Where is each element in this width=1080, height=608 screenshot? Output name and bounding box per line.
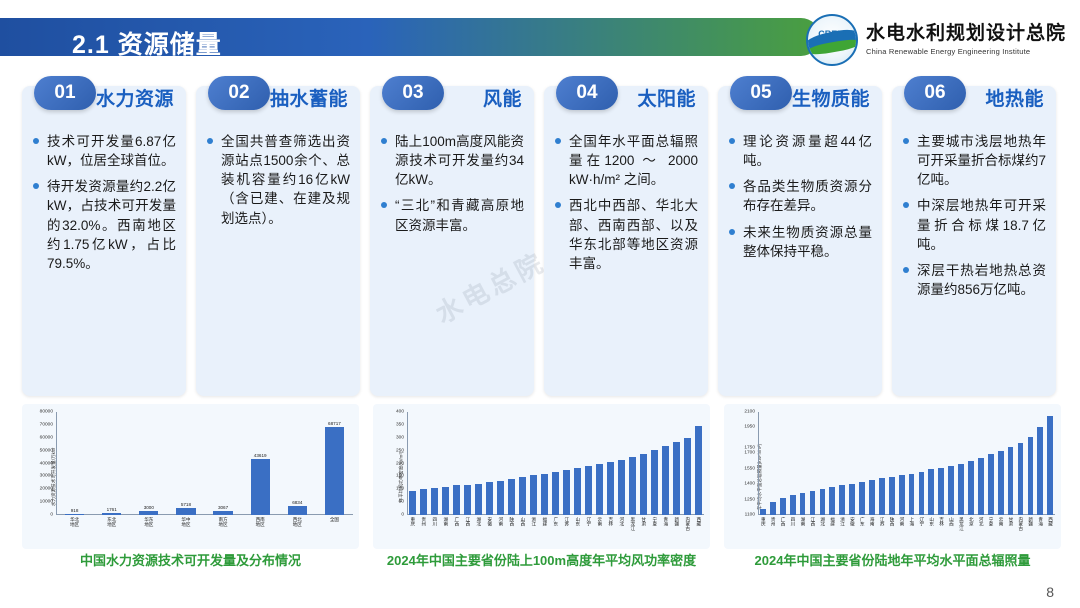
chart-x-tick: 华北 地区	[58, 517, 92, 528]
resource-card-geothermal: 06 地热能 主要城市浅层地热年可开采量折合标煤约7亿吨。 中深层地热年可开采量…	[892, 86, 1056, 396]
chart-x-tick: 贵州	[771, 517, 776, 526]
chart-x-tick: 上海	[909, 517, 914, 526]
chart-x-tick: 广西	[454, 517, 459, 526]
chart-x-tick: 广西	[780, 517, 785, 526]
chart-bar	[662, 446, 668, 515]
chart-x-tick: 河南	[899, 517, 904, 526]
chart-x-tick: 甘肃	[641, 517, 646, 526]
chart-bar	[928, 469, 934, 515]
chart-y-tick: 350	[396, 422, 404, 427]
chart-bar	[497, 481, 503, 515]
institute-logo: CREEI 水电水利规划设计总院 China Renewable Energy …	[806, 14, 1066, 66]
card-bullet: 中深层地热年可开采量折合标煤18.7亿吨。	[902, 196, 1046, 253]
chart-bar	[978, 458, 984, 515]
chart-x-tick: 山西	[949, 517, 954, 526]
chart-x-tick: 黑龙江	[630, 517, 635, 531]
chart-bar	[770, 502, 776, 515]
chart-y-tick: 0	[401, 513, 404, 518]
chart-x-tick: 湖北	[476, 517, 481, 526]
chart-x-tick: 西藏	[1048, 517, 1053, 526]
chart-bar	[65, 514, 84, 515]
chart-bar	[629, 457, 635, 515]
card-number-badge: 01	[34, 76, 96, 110]
chart-bar	[695, 426, 701, 515]
card-bullet: 全国年水平面总辐照量在1200 ～ 2000 kW·h/m² 之间。	[554, 132, 698, 189]
chart-bar	[508, 479, 514, 515]
chart-x-tick: 辽宁	[586, 517, 591, 526]
chart-bar	[541, 474, 547, 515]
chart-bar	[673, 442, 679, 515]
chart-x-tick: 四川	[790, 517, 795, 526]
chart-x-tick: 四川	[432, 517, 437, 526]
chart-y-tick: 200	[396, 461, 404, 466]
chart-x-tick: 青海	[1038, 517, 1043, 526]
chart-y-tick: 50	[399, 500, 404, 505]
chart-x-tick: 贵州	[421, 517, 426, 526]
chart-x-tick: 新疆	[674, 517, 679, 526]
chart-bar	[563, 470, 569, 515]
chart-bar	[607, 462, 613, 515]
chart-y-tick: 100	[396, 487, 404, 492]
chart-bar	[919, 472, 925, 515]
chart-y-tick: 1700	[744, 451, 755, 456]
chart-bar	[530, 475, 536, 515]
chart-x-tick: 河北	[619, 517, 624, 526]
chart-y-tick: 30000	[40, 474, 53, 479]
chart-bar-value: 68717	[328, 421, 341, 426]
chart-x-tick: 陕西	[889, 517, 894, 526]
chart-bar	[651, 450, 657, 515]
chart-bar	[760, 509, 766, 515]
chart-bar	[288, 506, 307, 515]
chart-bar	[948, 466, 954, 515]
chart-bar	[325, 427, 344, 515]
chart-bar	[1037, 427, 1043, 515]
chart-x-tick: 吉林	[939, 517, 944, 526]
chart-x-tick: 西南 地区	[243, 517, 277, 528]
card-bullet: 技术可开发量6.87亿kW，位居全球首位。	[32, 132, 176, 170]
card-number-badge: 02	[208, 76, 270, 110]
chart-bars: 重庆贵州广西四川湖南江西湖北福建浙江安徽广东海南江苏陕西河南上海辽宁山东吉林山西…	[758, 412, 1055, 515]
card-number-badge: 05	[730, 76, 792, 110]
chart-x-tick: 江苏	[564, 517, 569, 526]
chart-bar	[420, 489, 426, 515]
chart-wind-power-density: 年平均风功率密度(W/m²) 050100150200250300350400重…	[373, 404, 710, 549]
card-title: 水力资源	[96, 84, 174, 111]
chart-bar	[869, 480, 875, 515]
chart-bar-value: 5718	[181, 502, 191, 507]
chart-bar	[475, 484, 481, 515]
chart-x-tick: 宁夏	[652, 517, 657, 526]
chart-caption: 2024年中国主要省份陆地年平均水平面总辐照量	[724, 550, 1061, 569]
chart-x-tick: 山西	[520, 517, 525, 526]
card-bullet: 陆上100m高度风能资源技术可开发量约34亿kW。	[380, 132, 524, 189]
page-title: 2.1 资源储量	[72, 25, 222, 61]
slide-header: 2.1 资源储量 CREEI 水电水利规划设计总院 China Renewabl…	[0, 0, 1080, 64]
card-bullet: 西北中西部、华北大部、西南西部、以及华东北部等地区资源丰富。	[554, 196, 698, 273]
page-number: 8	[1046, 584, 1054, 600]
chart-x-tick: 东北 地区	[95, 517, 129, 528]
charts-row: 水力资源技术可开发量/万kW 0100002000030000400005000…	[22, 404, 1062, 579]
card-number-badge: 06	[904, 76, 966, 110]
chart-plot-area: 050100150200250300350400重庆贵州四川湖南广西江西湖北安徽…	[407, 412, 704, 515]
chart-x-tick: 内蒙古	[1018, 517, 1023, 531]
chart-x-tick: 西北 地区	[280, 517, 314, 528]
chart-bar	[1008, 447, 1014, 515]
chart-bar	[1028, 437, 1034, 515]
resource-cards: 01 水力资源 技术可开发量6.87亿kW，位居全球首位。 待开发资源量约2.2…	[22, 86, 1062, 396]
chart-bar	[251, 459, 270, 515]
chart-bar	[889, 477, 895, 515]
chart-y-tick: 70000	[40, 422, 53, 427]
chart-bar	[1018, 443, 1024, 515]
card-bullet: 未来生物质资源总量整体保持平稳。	[728, 223, 872, 261]
chart-bar	[998, 451, 1004, 515]
resource-card-wind: 03 风能 陆上100m高度风能资源技术可开发量约34亿kW。 “三北”和青藏高…	[370, 86, 534, 396]
chart-x-tick: 福建	[542, 517, 547, 526]
chart-bar	[442, 487, 448, 515]
chart-x-tick: 海南	[870, 517, 875, 526]
chart-x-tick: 浙江	[840, 517, 845, 526]
card-bullet: 全国共普查筛选出资源站点1500余个、总装机容量约16亿kW（含已建、在建及规划…	[206, 132, 350, 228]
chart-bar	[640, 454, 646, 515]
card-title: 生物质能	[792, 84, 870, 111]
chart-y-tick: 250	[396, 448, 404, 453]
chart-bar	[453, 485, 459, 515]
chart-y-tick: 300	[396, 435, 404, 440]
chart-x-tick: 陕西	[509, 517, 514, 526]
chart-x-tick: 湖南	[443, 517, 448, 526]
chart-hydro-resources: 水力资源技术可开发量/万kW 0100002000030000400005000…	[22, 404, 359, 549]
chart-bar	[431, 488, 437, 515]
chart-y-tick: 40000	[40, 461, 53, 466]
chart-bar	[596, 464, 602, 515]
chart-x-tick: 江西	[465, 517, 470, 526]
chart-bar	[780, 498, 786, 516]
chart-y-tick: 400	[396, 410, 404, 415]
chart-bar	[810, 491, 816, 515]
chart-x-tick: 华东 地区	[132, 517, 166, 528]
chart-bar	[618, 460, 624, 515]
chart-x-tick: 重庆	[761, 517, 766, 526]
chart-x-tick: 西藏	[696, 517, 701, 526]
chart-bar-value: 918	[71, 508, 79, 513]
card-bullet: 各品类生物质资源分布存在差异。	[728, 177, 872, 215]
chart-x-tick: 福建	[830, 517, 835, 526]
chart-bar	[899, 475, 905, 515]
chart-x-tick: 安徽	[487, 517, 492, 526]
chart-bar-value: 6834	[292, 500, 302, 505]
chart-y-tick: 1950	[744, 425, 755, 430]
chart-bar	[839, 485, 845, 515]
chart-y-tick: 2100	[744, 410, 755, 415]
chart-bar	[464, 485, 470, 515]
resource-card-solar: 04 太阳能 全国年水平面总辐照量在1200 ～ 2000 kW·h/m² 之间…	[544, 86, 708, 396]
chart-x-tick: 山东	[929, 517, 934, 526]
chart-y-tick: 20000	[40, 487, 53, 492]
chart-x-tick: 新疆	[1028, 517, 1033, 526]
card-bullet: 主要城市浅层地热年可开采量折合标煤约7亿吨。	[902, 132, 1046, 189]
chart-x-tick: 湖北	[820, 517, 825, 526]
chart-caption: 中国水力资源技术可开发量及分布情况	[22, 550, 359, 569]
chart-x-tick: 广东	[860, 517, 865, 526]
chart-plot-area: 11001250140015501700175019502100重庆贵州广西四川…	[758, 412, 1055, 515]
chart-bars: 重庆贵州四川湖南广西江西湖北安徽河南陕西山西浙江福建广东江苏山东辽宁云南吉林河北…	[407, 412, 704, 515]
chart-bar	[552, 472, 558, 515]
chart-bar	[139, 511, 158, 515]
chart-x-tick: 南方 地区	[206, 517, 240, 528]
card-bullet: “三北”和青藏高原地区资源丰富。	[380, 196, 524, 234]
chart-x-tick: 江苏	[880, 517, 885, 526]
chart-caption: 2024年中国主要省份陆上100m高度年平均风功率密度	[373, 550, 710, 569]
chart-x-tick: 内蒙古	[685, 517, 690, 531]
chart-x-tick: 全国	[317, 517, 351, 522]
chart-bar-value: 3000	[144, 505, 154, 510]
chart-y-tick: 1100	[745, 513, 755, 518]
chart-bar	[790, 495, 796, 515]
chart-bar	[519, 477, 525, 515]
chart-bars: 918华北 地区1761东北 地区3000华东 地区5718华中 地区3067南…	[56, 412, 353, 515]
chart-y-tick: 80000	[40, 410, 53, 415]
chart-x-tick: 江西	[810, 517, 815, 526]
card-title: 风能	[483, 84, 522, 111]
chart-bar	[859, 482, 865, 515]
chart-x-tick: 宁夏	[989, 517, 994, 526]
chart-x-tick: 辽宁	[919, 517, 924, 526]
logo-name-cn: 水电水利规划设计总院	[866, 24, 1066, 45]
chart-x-tick: 云南	[597, 517, 602, 526]
card-title: 地热能	[985, 84, 1044, 111]
chart-bar-value: 1761	[107, 507, 117, 512]
chart-bar	[849, 484, 855, 515]
card-title: 抽水蓄能	[270, 84, 348, 111]
chart-bar	[909, 474, 915, 515]
chart-x-tick: 甘肃	[1008, 517, 1013, 526]
chart-plot-area: 0100002000030000400005000060000700008000…	[56, 412, 353, 515]
chart-x-tick: 云南	[998, 517, 1003, 526]
chart-x-tick: 青海	[663, 517, 668, 526]
chart-bar	[585, 466, 591, 515]
resource-card-biomass: 05 生物质能 理论资源量超44亿吨。 各品类生物质资源分布存在差异。 未来生物…	[718, 86, 882, 396]
chart-bar	[968, 461, 974, 515]
chart-bar	[486, 482, 492, 515]
chart-x-tick: 山东	[575, 517, 580, 526]
chart-x-tick: 河北	[979, 517, 984, 526]
chart-y-tick: 1750	[744, 446, 755, 451]
card-bullet: 深层干热岩地热总资源量约856万亿吨。	[902, 261, 1046, 299]
chart-y-tick: 50000	[40, 448, 53, 453]
chart-y-tick: 1400	[744, 482, 755, 487]
chart-y-tick: 1550	[744, 466, 755, 471]
chart-bar	[176, 508, 195, 515]
chart-x-tick: 河南	[498, 517, 503, 526]
chart-bar	[800, 493, 806, 515]
chart-bar	[574, 468, 580, 515]
chart-solar-irradiation: 年平均水平面总辐照量(kW·h/m²) 11001250140015501700…	[724, 404, 1061, 549]
logo-abbr: CREEI	[818, 29, 846, 39]
chart-y-tick: 60000	[40, 435, 53, 440]
chart-bar	[1047, 416, 1053, 515]
chart-bar	[409, 491, 415, 515]
chart-y-tick: 1250	[744, 497, 755, 502]
chart-x-tick: 重庆	[410, 517, 415, 526]
chart-x-tick: 北京	[969, 517, 974, 526]
chart-bar	[102, 513, 121, 515]
chart-x-tick: 浙江	[531, 517, 536, 526]
chart-bar	[829, 487, 835, 515]
chart-x-tick: 广东	[553, 517, 558, 526]
chart-bar	[213, 511, 232, 515]
chart-bar-value: 43619	[254, 453, 267, 458]
card-bullet: 理论资源量超44亿吨。	[728, 132, 872, 170]
chart-y-tick: 10000	[40, 500, 53, 505]
logo-name-en: China Renewable Energy Engineering Insti…	[866, 47, 1066, 56]
card-number-badge: 03	[382, 76, 444, 110]
card-title: 太阳能	[637, 84, 696, 111]
chart-bar	[938, 468, 944, 515]
chart-x-tick: 黑龙江	[959, 517, 964, 531]
resource-card-hydro: 01 水力资源 技术可开发量6.87亿kW，位居全球首位。 待开发资源量约2.2…	[22, 86, 186, 396]
chart-y-tick: 0	[50, 513, 53, 518]
chart-y-tick: 150	[396, 474, 404, 479]
chart-bar	[988, 454, 994, 515]
chart-bar	[958, 464, 964, 516]
chart-bar	[820, 489, 826, 515]
chart-bar-value: 3067	[218, 505, 228, 510]
chart-x-tick: 华中 地区	[169, 517, 203, 528]
resource-card-pumped-storage: 02 抽水蓄能 全国共普查筛选出资源站点1500余个、总装机容量约16亿kW（含…	[196, 86, 360, 396]
card-bullet: 待开发资源量约2.2亿kW，占技术可开发量的32.0%。西南地区约1.75亿kW…	[32, 177, 176, 273]
card-number-badge: 04	[556, 76, 618, 110]
chart-x-tick: 吉林	[608, 517, 613, 526]
chart-bar	[879, 478, 885, 515]
chart-x-tick: 安徽	[850, 517, 855, 526]
logo-mark-icon: CREEI	[806, 14, 858, 66]
chart-x-tick: 湖南	[800, 517, 805, 526]
chart-bar	[684, 438, 690, 515]
